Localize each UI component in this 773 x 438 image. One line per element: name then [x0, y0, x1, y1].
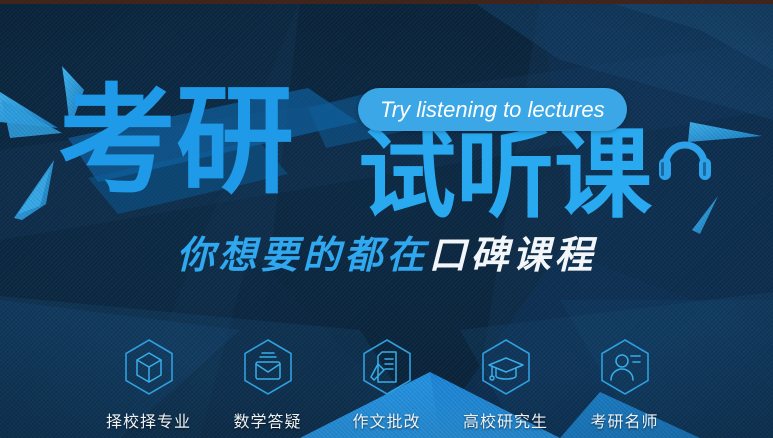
- user-profile-hexagon-icon: [598, 338, 652, 396]
- headline-group: 考研 试听课 Try listening to lectures: [58, 78, 718, 238]
- top-accent-strip: [0, 0, 773, 4]
- graduation-cap-hexagon-icon: [479, 338, 533, 396]
- feature-item-famous-teachers[interactable]: 考研名师: [565, 338, 684, 432]
- subtitle-white-part: 口碑课程: [429, 233, 597, 277]
- subtitle-blue-part: 你想要的都在: [176, 233, 428, 277]
- subtitle: 你想要的都在口碑课程: [0, 224, 773, 279]
- promo-banner: 考研 试听课 Try listening to lectures 你想要的都在口…: [0, 0, 773, 438]
- feature-item-essay-correction[interactable]: 作文批改: [327, 338, 446, 432]
- headline-secondary-word: 试听课: [358, 126, 652, 224]
- feature-label: 择校择专业: [106, 408, 191, 432]
- feature-label: 高校研究生: [463, 408, 548, 432]
- document-pen-hexagon-icon: [360, 338, 414, 396]
- cube-hexagon-icon: [122, 338, 176, 396]
- headphone-icon: [650, 128, 720, 188]
- feature-label: 作文批改: [352, 408, 420, 432]
- try-listening-pill[interactable]: Try listening to lectures: [358, 88, 627, 131]
- feature-label: 数学答疑: [233, 408, 301, 432]
- envelope-hexagon-icon: [241, 338, 295, 396]
- feature-item-math-qa[interactable]: 数学答疑: [208, 338, 327, 432]
- feature-label: 考研名师: [590, 408, 658, 432]
- feature-list: 择校择专业 数学答疑 作文批改: [0, 338, 773, 432]
- headline-primary-word: 考研: [58, 82, 294, 200]
- feature-item-major-selection[interactable]: 择校择专业: [89, 338, 208, 432]
- feature-item-graduate-schools[interactable]: 高校研究生: [446, 338, 565, 432]
